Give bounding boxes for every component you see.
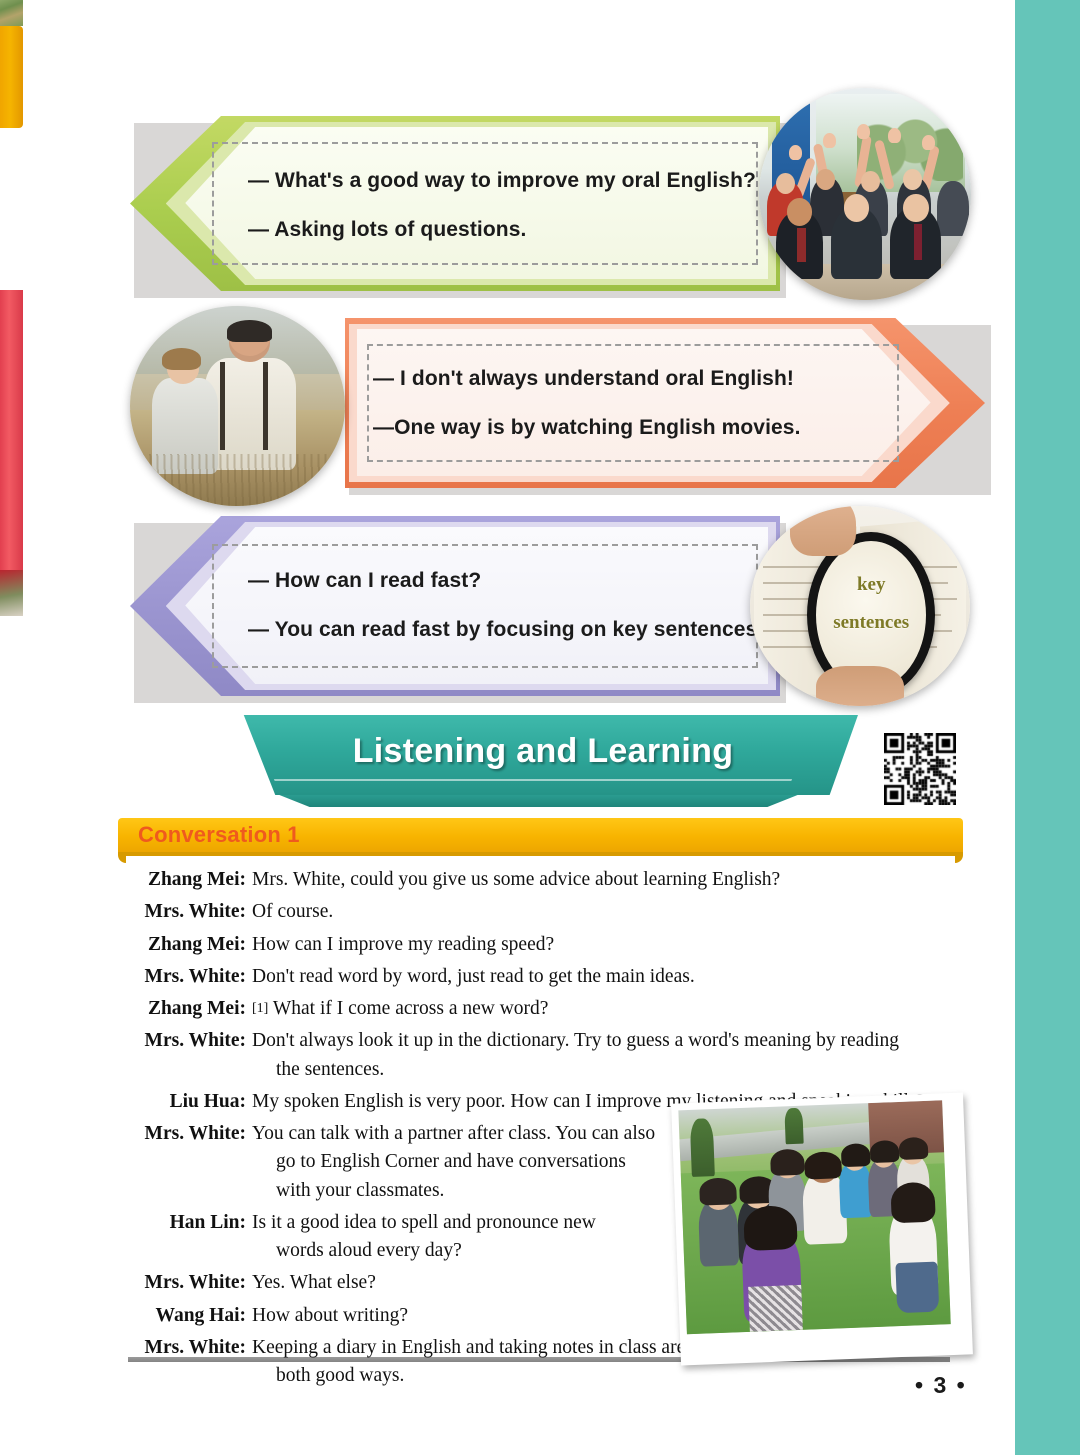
dialogue-turn: Zhang Mei:[1] What if I come across a ne… xyxy=(130,995,950,1023)
dialogue-line-text: Yes. What else? xyxy=(252,1272,376,1293)
dialogue-speaker: Zhang Mei: xyxy=(130,866,252,894)
lens-text-sentences: sentences xyxy=(816,612,926,634)
facing-page-red-bottom-sliver xyxy=(0,570,23,616)
dialogue-speaker: Mrs. White: xyxy=(130,898,252,926)
dialogue-turn: Zhang Mei:Mrs. White, could you give us … xyxy=(130,866,950,894)
classroom-photo xyxy=(759,88,971,300)
speech-banner-green: — What's a good way to improve my oral E… xyxy=(130,116,780,291)
dialogue-speaker: Liu Hua: xyxy=(130,1088,252,1116)
dialogue-turn: Mrs. White:Of course. xyxy=(130,898,950,926)
dialogue-line-text: You can talk with a partner after class.… xyxy=(252,1123,655,1144)
dialogue-line-text: Don't read word by word, just read to ge… xyxy=(252,966,695,987)
banner-text-green: — What's a good way to improve my oral E… xyxy=(248,168,756,244)
hand-icon xyxy=(888,128,901,143)
face-shape xyxy=(816,169,835,190)
english-corner-photo xyxy=(671,1092,973,1365)
photo-inner xyxy=(678,1100,950,1334)
hand-icon xyxy=(789,145,802,160)
field-photo xyxy=(130,306,345,506)
finger-shape xyxy=(790,506,856,556)
dialogue-line: Of course. xyxy=(252,898,950,926)
girl-hair-shape xyxy=(162,348,201,370)
dialogue-line-continuation: the sentences. xyxy=(252,1056,950,1084)
tree-icon xyxy=(784,1108,804,1145)
dialogue-line: How can I improve my reading speed? xyxy=(252,931,950,959)
banner-line: — Asking lots of questions. xyxy=(248,217,756,243)
title-bar-foot xyxy=(266,794,811,807)
section-title-banner: Listening and Learning xyxy=(228,715,858,807)
dialogue-line: Don't read word by word, just read to ge… xyxy=(252,963,950,991)
wheat-texture xyxy=(130,454,345,506)
magnifier-photo: key sentences xyxy=(750,506,970,706)
qr-code-icon[interactable] xyxy=(884,733,956,805)
banner-line: —One way is by watching English movies. xyxy=(373,415,801,441)
face-shape xyxy=(903,169,922,190)
facing-page-yellow-sliver xyxy=(0,26,23,128)
dialogue-speaker: Mrs. White: xyxy=(130,1269,252,1297)
dialogue-speaker: Mrs. White: xyxy=(130,1120,252,1148)
dialogue-line: Mrs. White, could you give us some advic… xyxy=(252,866,950,894)
dialogue-speaker: Han Lin: xyxy=(130,1209,252,1237)
hair-shape xyxy=(804,1151,842,1179)
facing-page-red-sliver xyxy=(0,290,23,570)
dialogue-speaker: Mrs. White: xyxy=(130,1027,252,1055)
conversation-header: Conversation 1 xyxy=(118,818,963,852)
section-title: Listening and Learning xyxy=(228,732,858,771)
dialogue-line-text: Keeping a diary in English and taking no… xyxy=(252,1337,685,1358)
banner-line: — How can I read fast? xyxy=(248,568,763,594)
hair-shape xyxy=(899,1137,929,1160)
dialogue-speaker: Zhang Mei: xyxy=(130,995,252,1023)
banner-text-purple: — How can I read fast? — You can read fa… xyxy=(248,568,763,644)
dialogue-line-text: [1] What if I come across a new word? xyxy=(252,998,548,1019)
face-shape xyxy=(861,171,880,192)
hair-shape xyxy=(699,1178,737,1206)
hair-shape xyxy=(841,1143,871,1166)
speech-banner-salmon: — I don't always understand oral English… xyxy=(345,318,985,488)
suspender-shape xyxy=(263,362,268,450)
hand-icon xyxy=(857,124,870,139)
dialogue-line-text: Mrs. White, could you give us some advic… xyxy=(252,869,780,890)
lens-text-key: key xyxy=(816,574,926,596)
textbook-page: — What's a good way to improve my oral E… xyxy=(0,0,1080,1455)
necktie-shape xyxy=(914,224,922,260)
dialogue-speaker: Zhang Mei: xyxy=(130,931,252,959)
right-edge-teal-band xyxy=(1015,0,1080,1455)
dialogue-line: Don't always look it up in the dictionar… xyxy=(252,1027,950,1084)
hair-shape xyxy=(743,1205,797,1252)
face-shape xyxy=(776,173,795,194)
banner-text-salmon: — I don't always understand oral English… xyxy=(373,366,801,442)
footnote-marker: [1] xyxy=(252,1001,268,1016)
suspender-shape xyxy=(220,362,225,450)
dialogue-turn: Mrs. White:Don't read word by word, just… xyxy=(130,963,950,991)
banner-line: — I don't always understand oral English… xyxy=(373,366,801,392)
hand-icon xyxy=(823,133,836,148)
dialogue-line: [1] What if I come across a new word? xyxy=(252,995,950,1023)
dialogue-turn: Zhang Mei:How can I improve my reading s… xyxy=(130,931,950,959)
dialogue-line-text: Of course. xyxy=(252,901,333,922)
skirt-shape xyxy=(749,1285,803,1332)
dialogue-line-text: How about writing? xyxy=(252,1305,408,1326)
dialogue-line-text: Is it a good idea to spell and pronounce… xyxy=(252,1212,596,1233)
man-hair-shape xyxy=(227,320,272,342)
dialogue-line-text: Don't always look it up in the dictionar… xyxy=(252,1030,899,1051)
speech-banner-purple: — How can I read fast? — You can read fa… xyxy=(130,516,780,696)
facing-page-photo-sliver xyxy=(0,0,23,26)
dialogue-turn: Mrs. White:Don't always look it up in th… xyxy=(130,1027,950,1084)
dialogue-line-continuation: both good ways. xyxy=(252,1362,950,1390)
face-shape xyxy=(787,198,812,226)
hair-shape xyxy=(870,1140,900,1163)
title-bar-body: Listening and Learning xyxy=(228,715,858,795)
hand-icon xyxy=(922,135,935,150)
dialogue-speaker: Mrs. White: xyxy=(130,1334,252,1362)
hair-shape xyxy=(770,1148,805,1176)
banner-line: — You can read fast by focusing on key s… xyxy=(248,617,763,643)
face-shape xyxy=(844,194,869,222)
thumb-shape xyxy=(816,666,904,706)
dialogue-line-text: How can I improve my reading speed? xyxy=(252,934,554,955)
conversation-title: Conversation 1 xyxy=(138,822,300,848)
face-shape xyxy=(903,194,928,222)
dialogue-speaker: Wang Hai: xyxy=(130,1302,252,1330)
dialogue-speaker: Mrs. White: xyxy=(130,963,252,991)
student-figure xyxy=(937,181,969,236)
facing-page-gap-sliver xyxy=(0,128,23,290)
necktie-shape xyxy=(797,228,805,262)
jeans-shape xyxy=(896,1262,940,1313)
tree-icon xyxy=(689,1118,715,1177)
banner-line: — What's a good way to improve my oral E… xyxy=(248,168,756,194)
